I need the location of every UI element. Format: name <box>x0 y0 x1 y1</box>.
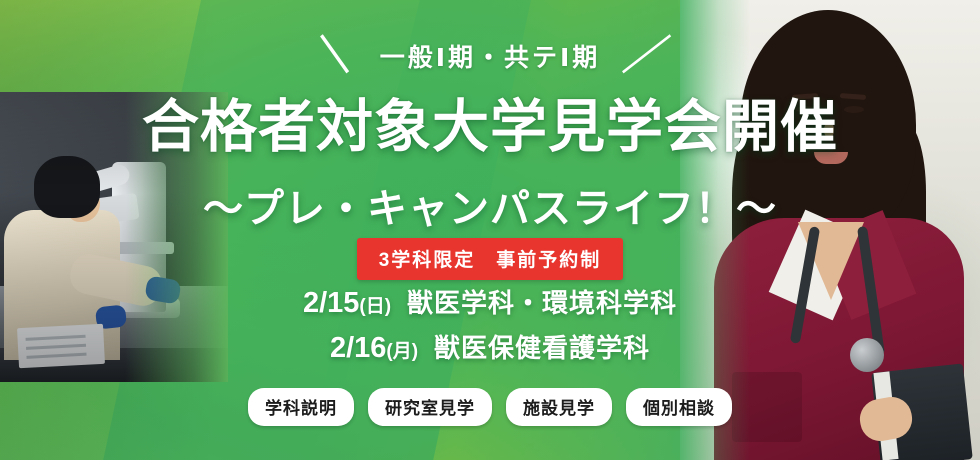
tag-item-facility-tour[interactable]: 施設見学 <box>506 388 612 426</box>
schedule-date-dow: (月) <box>386 341 418 362</box>
tag-list: 学科説明 研究室見学 施設見学 個別相談 <box>0 388 980 426</box>
slash-right-icon: ／ <box>621 36 672 76</box>
banner-subtitle: 〜プレ・キャンパスライフ！〜 <box>0 176 980 234</box>
schedule-departments: 獣医学科・環境科学科 <box>407 283 677 320</box>
banner-title: 合格者対象大学見学会開催 <box>0 96 980 160</box>
schedule-date-number: 2/15 <box>303 287 359 319</box>
schedule-departments: 獣医保健看護学科 <box>434 328 650 365</box>
schedule-date-number: 2/16 <box>330 332 386 364</box>
banner-content: ＼ 一般Ⅰ期・共テⅠ期 ／ 合格者対象大学見学会開催 〜プレ・キャンパスライフ！… <box>0 0 980 460</box>
slash-left-icon: ＼ <box>308 36 359 76</box>
kicker-row: ＼ 一般Ⅰ期・共テⅠ期 ／ <box>0 36 980 76</box>
schedule-row: 2/16(月) 獣医保健看護学科 <box>330 328 650 365</box>
tag-item-lab-tour[interactable]: 研究室見学 <box>368 388 492 426</box>
event-banner: ＼ 一般Ⅰ期・共テⅠ期 ／ 合格者対象大学見学会開催 〜プレ・キャンパスライフ！… <box>0 0 980 460</box>
schedule-date: 2/15(日) <box>303 287 391 320</box>
notice-badge-row: 3学科限定 事前予約制 <box>0 238 980 280</box>
kicker-text: 一般Ⅰ期・共テⅠ期 <box>380 38 601 74</box>
schedule-date: 2/16(月) <box>330 332 418 365</box>
schedule-date-dow: (日) <box>359 296 391 317</box>
notice-badge: 3学科限定 事前予約制 <box>357 238 624 280</box>
schedule-list: 2/15(日) 獣医学科・環境科学科 2/16(月) 獣医保健看護学科 <box>0 283 980 365</box>
schedule-row: 2/15(日) 獣医学科・環境科学科 <box>303 283 677 320</box>
tag-item-individual-consultation[interactable]: 個別相談 <box>626 388 732 426</box>
tag-item-department-briefing[interactable]: 学科説明 <box>248 388 354 426</box>
